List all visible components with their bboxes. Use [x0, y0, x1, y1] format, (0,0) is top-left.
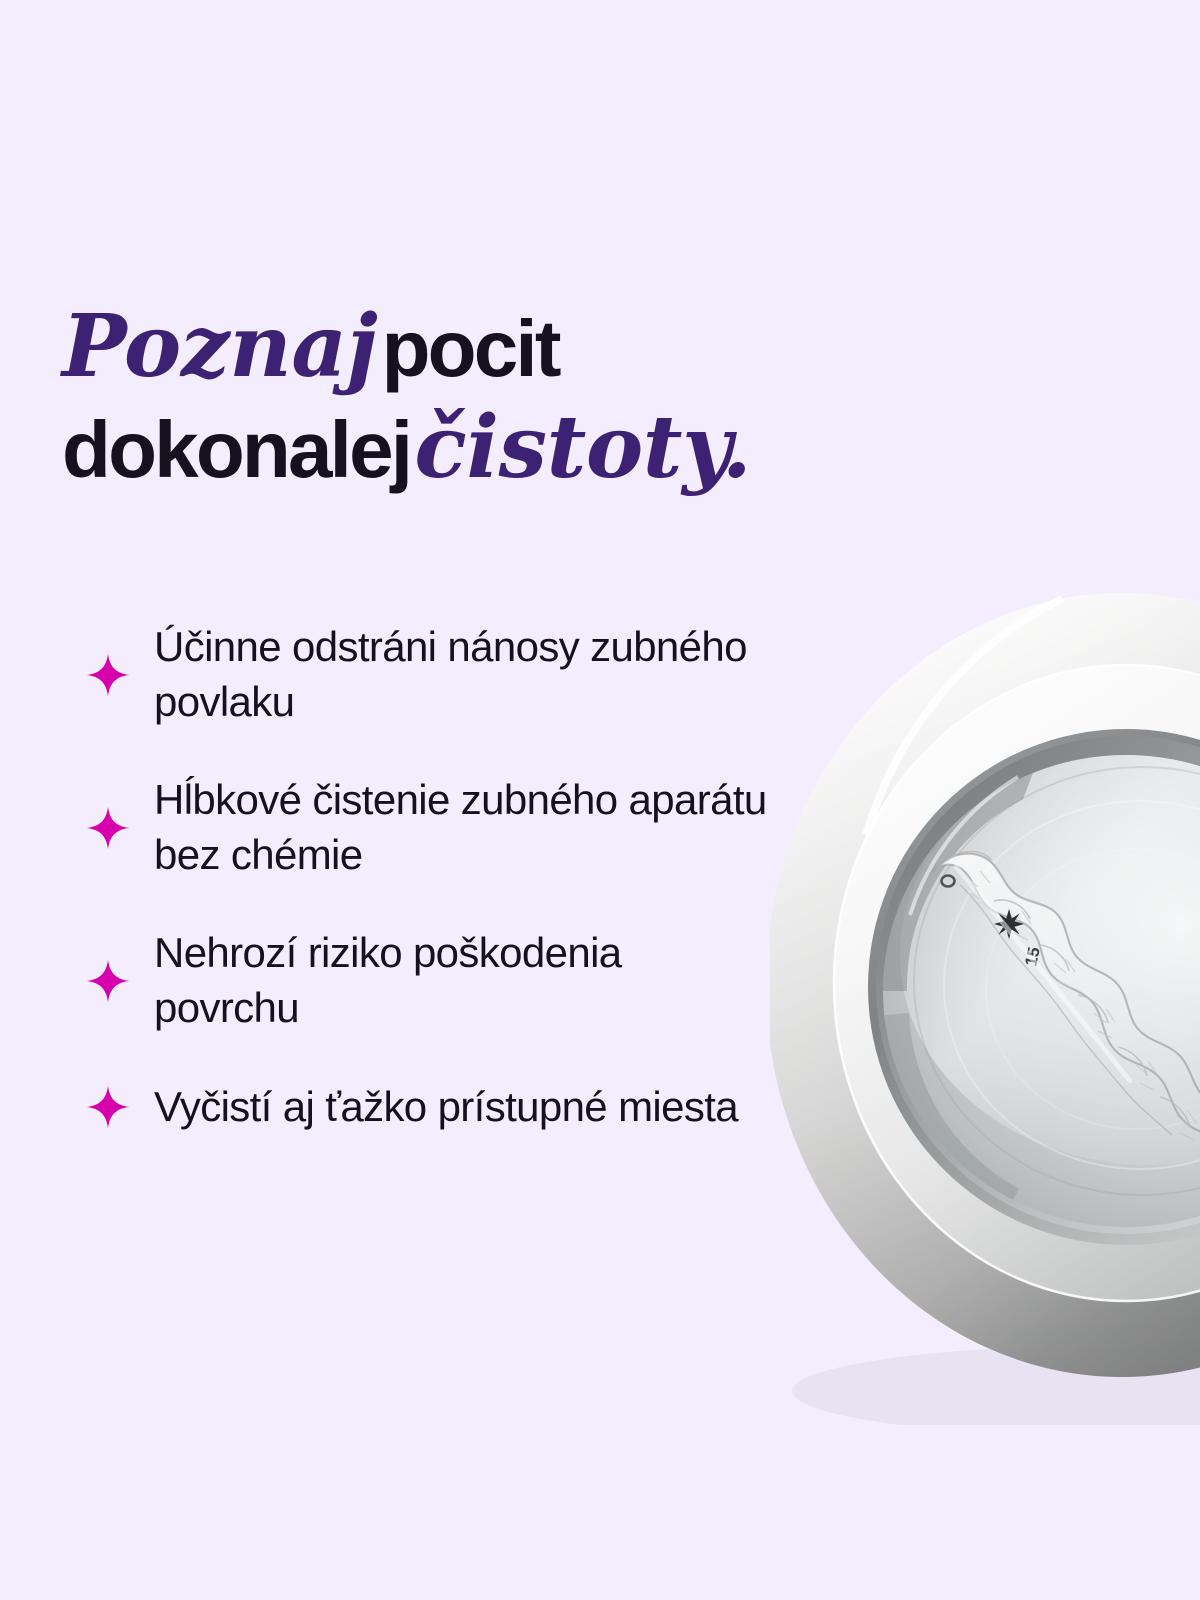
headline-line-2: dokonalej čistoty.: [62, 397, 922, 498]
poster-canvas: 15 Poznaj pocit dokonalej čistoty.: [0, 0, 1200, 1600]
headline: Poznaj pocit dokonalej čistoty.: [62, 296, 922, 499]
feature-item: Nehrozí riziko poškodenia povrchu: [62, 926, 772, 1035]
headline-line-1: Poznaj pocit: [62, 296, 922, 397]
feature-text: Vyčistí aj ťažko prístupné miesta: [154, 1080, 772, 1135]
sparkle-star-icon: [62, 653, 154, 697]
sparkle-star-icon: [62, 806, 154, 850]
headline-emphasis-cistoty: čistoty.: [414, 397, 751, 498]
product-photo: 15: [770, 585, 1200, 1425]
headline-text-dokonalej: dokonalej: [62, 405, 410, 494]
sparkle-star-icon: [62, 1085, 154, 1129]
feature-item: Hĺbkové čistenie zubného aparátu bez ché…: [62, 773, 772, 882]
feature-text: Účinne odstráni nánosy zubného povlaku: [154, 620, 772, 729]
feature-item: Vyčistí aj ťažko prístupné miesta: [62, 1080, 772, 1135]
sparkle-star-icon: [62, 959, 154, 1003]
feature-list: Účinne odstráni nánosy zubného povlaku H…: [62, 620, 772, 1134]
aligner-label: 15: [1021, 945, 1044, 967]
feature-item: Účinne odstráni nánosy zubného povlaku: [62, 620, 772, 729]
headline-emphasis-poznaj: Poznaj: [62, 296, 377, 397]
feature-text: Hĺbkové čistenie zubného aparátu bez ché…: [154, 773, 772, 882]
feature-text: Nehrozí riziko poškodenia povrchu: [154, 926, 772, 1035]
headline-text-pocit: pocit: [382, 304, 559, 393]
